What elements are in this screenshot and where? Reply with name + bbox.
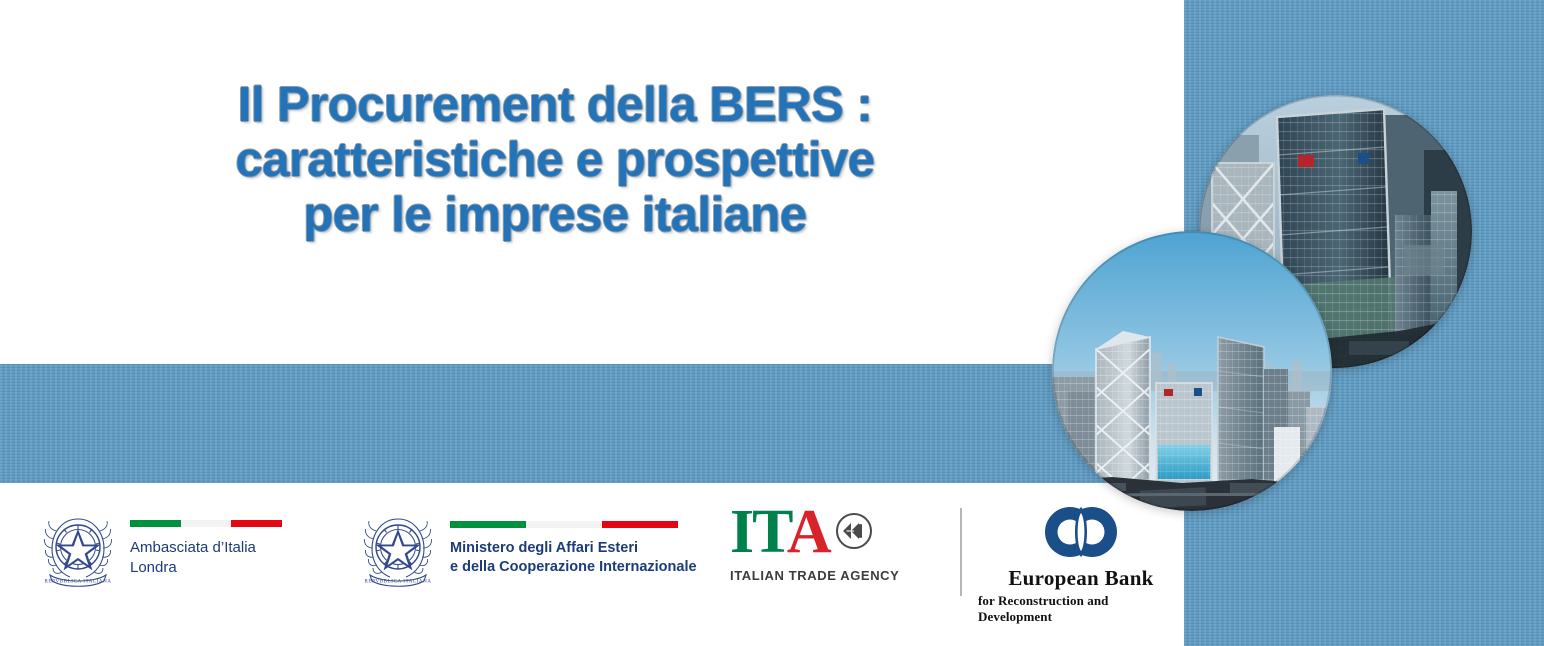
svg-text:REPVBBLICA ITALIANA: REPVBBLICA ITALIANA [44,579,111,585]
ita-letter-t: T [752,498,787,566]
logo-ebrd: European Bank for Reconstruction and Dev… [978,503,1184,625]
title-line-3: per le imprese italiane [0,188,1110,243]
italian-republic-emblem-icon: REPVBBLICA ITALIANA [42,507,114,591]
event-banner: Il Procurement della BERS : caratteristi… [0,0,1544,646]
ministry-text-block: Ministero degli Affari Esteri e della Co… [450,521,697,577]
ebrd-name: European Bank [1008,566,1153,591]
italian-tricolor-bar [130,520,282,527]
ita-mark: ITA [730,505,899,560]
ebrd-interlocking-circles-icon [1038,503,1124,561]
embassy-caption-line-1: Ambasciata d’Italia [130,538,282,558]
italian-republic-emblem-icon: REPVBBLICA ITALIANA [362,507,434,591]
logo-italian-trade-agency: ITA [730,505,899,583]
ebrd-subtitle: for Reconstruction and Development [978,593,1184,625]
ice-arrows-icon [834,511,874,556]
horizontal-blue-band [0,364,1184,483]
embassy-text-block: Ambasciata d’Italia Londra [130,520,282,578]
svg-text:REPVBBLICA ITALIANA: REPVBBLICA ITALIANA [364,579,431,585]
title-line-2: caratteristiche e prospettive [0,133,1110,188]
ita-letter-a: A [787,498,830,566]
ministry-caption: Ministero degli Affari Esteri e della Co… [450,539,697,577]
photo-canary-wharf-skyline [1052,231,1332,511]
page-title: Il Procurement della BERS : caratteristi… [0,78,1110,243]
embassy-caption: Ambasciata d’Italia Londra [130,538,282,578]
ministry-caption-line-2: e della Cooperazione Internazionale [450,558,697,577]
logo-embassy-of-italy: REPVBBLICA ITALIANA Ambasciata d’Italia … [42,507,282,591]
logo-divider [960,508,962,596]
ita-stack: ITA [730,505,899,583]
logo-ministry-foreign-affairs: REPVBBLICA ITALIANA Ministero degli Affa… [362,507,697,591]
embassy-caption-line-2: Londra [130,558,282,578]
ita-letter-i: I [730,498,752,566]
italian-tricolor-bar [450,521,678,528]
ita-wordmark: ITA [730,505,830,560]
partner-logo-row: REPVBBLICA ITALIANA Ambasciata d’Italia … [0,495,1184,615]
ita-subtitle: ITALIAN TRADE AGENCY [730,568,899,583]
title-line-1: Il Procurement della BERS : [0,78,1110,133]
ministry-caption-line-1: Ministero degli Affari Esteri [450,539,697,558]
